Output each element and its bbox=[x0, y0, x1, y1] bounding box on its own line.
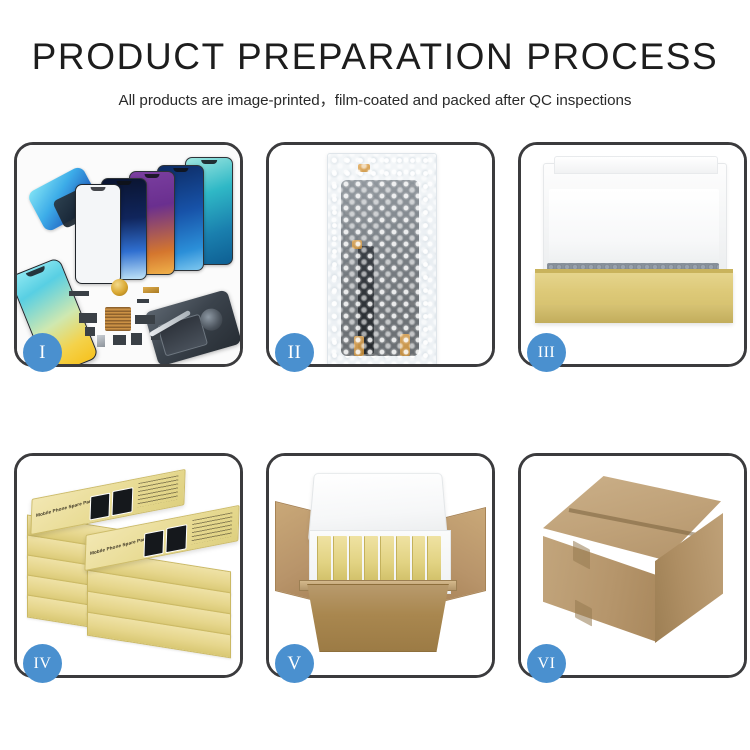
tweezer-tool bbox=[149, 310, 191, 337]
carton-front-face bbox=[301, 584, 455, 652]
step-panel-2: II bbox=[266, 142, 495, 367]
vibration-motor-part bbox=[113, 335, 126, 345]
yellow-box-item bbox=[317, 536, 331, 584]
bubble-texture-overlay bbox=[328, 154, 436, 364]
small-chip-part bbox=[137, 299, 149, 303]
yellow-box-item bbox=[427, 536, 441, 584]
box-window-right bbox=[111, 487, 133, 516]
spare-parts-group bbox=[69, 277, 199, 357]
steps-grid: I II bbox=[0, 0, 750, 750]
scene-carton-loading bbox=[269, 456, 492, 675]
scene-product-components bbox=[17, 145, 240, 364]
box-spec-lines bbox=[192, 512, 233, 544]
bracket-part bbox=[79, 313, 97, 323]
step-image-1 bbox=[17, 145, 240, 364]
box-spec-lines bbox=[138, 475, 179, 507]
step-badge-6: VI bbox=[527, 644, 566, 683]
flex-cable-part bbox=[143, 287, 159, 293]
bubble-wrap-bag bbox=[327, 153, 437, 364]
scene-inner-box-packing bbox=[521, 145, 744, 364]
box-window-left bbox=[143, 530, 164, 558]
foam-sheet bbox=[549, 189, 719, 263]
step-badge-5: V bbox=[275, 644, 314, 683]
step-badge-1: I bbox=[23, 333, 62, 372]
step-badge-4: IV bbox=[23, 644, 62, 683]
step-image-2 bbox=[269, 145, 492, 364]
yellow-boxes-inside bbox=[317, 536, 441, 584]
box-window-left bbox=[89, 493, 110, 521]
box-label-text: Mobile Phone Spare Parts bbox=[36, 497, 95, 518]
yellow-box-item bbox=[412, 536, 426, 584]
phone-white-front bbox=[75, 184, 121, 284]
yellow-box-item bbox=[333, 536, 347, 584]
yellow-box-item bbox=[364, 536, 378, 584]
sim-tray-part bbox=[97, 335, 105, 347]
step-panel-1: I bbox=[14, 142, 243, 367]
button-part bbox=[131, 333, 142, 345]
yellow-box-item bbox=[380, 536, 394, 584]
box-stack: Mobile Phone Spare Parts Mobile Phone Sp… bbox=[25, 482, 237, 662]
copper-grid-part bbox=[105, 307, 131, 331]
step-panel-3: III bbox=[518, 142, 747, 367]
step-badge-2: II bbox=[275, 333, 314, 372]
yellow-box-item bbox=[396, 536, 410, 584]
scene-sealed-carton bbox=[521, 456, 744, 675]
yellow-box-item bbox=[349, 536, 363, 584]
yellow-box-front-face bbox=[535, 305, 733, 323]
scene-bubble-wrapping bbox=[269, 145, 492, 364]
coin-part bbox=[111, 279, 128, 296]
step-panel-5: V bbox=[266, 453, 495, 678]
box-window-right bbox=[165, 524, 187, 553]
product-preparation-infographic: PRODUCT PREPARATION PROCESS All products… bbox=[0, 0, 750, 750]
scene-boxes-stacked: Mobile Phone Spare Parts Mobile Phone Sp… bbox=[17, 456, 240, 675]
step-badge-3: III bbox=[527, 333, 566, 372]
box-label-text: Mobile Phone Spare Parts bbox=[90, 535, 149, 556]
step-panel-4: Mobile Phone Spare Parts Mobile Phone Sp… bbox=[14, 453, 243, 678]
speaker-part bbox=[135, 315, 155, 324]
step-image-5 bbox=[269, 456, 492, 675]
step-panel-6: VI bbox=[518, 453, 747, 678]
step-image-6 bbox=[521, 456, 744, 675]
step-image-4: Mobile Phone Spare Parts Mobile Phone Sp… bbox=[17, 456, 240, 675]
step-image-3 bbox=[521, 145, 744, 364]
screw-part bbox=[85, 327, 95, 336]
connector-part bbox=[69, 291, 89, 296]
